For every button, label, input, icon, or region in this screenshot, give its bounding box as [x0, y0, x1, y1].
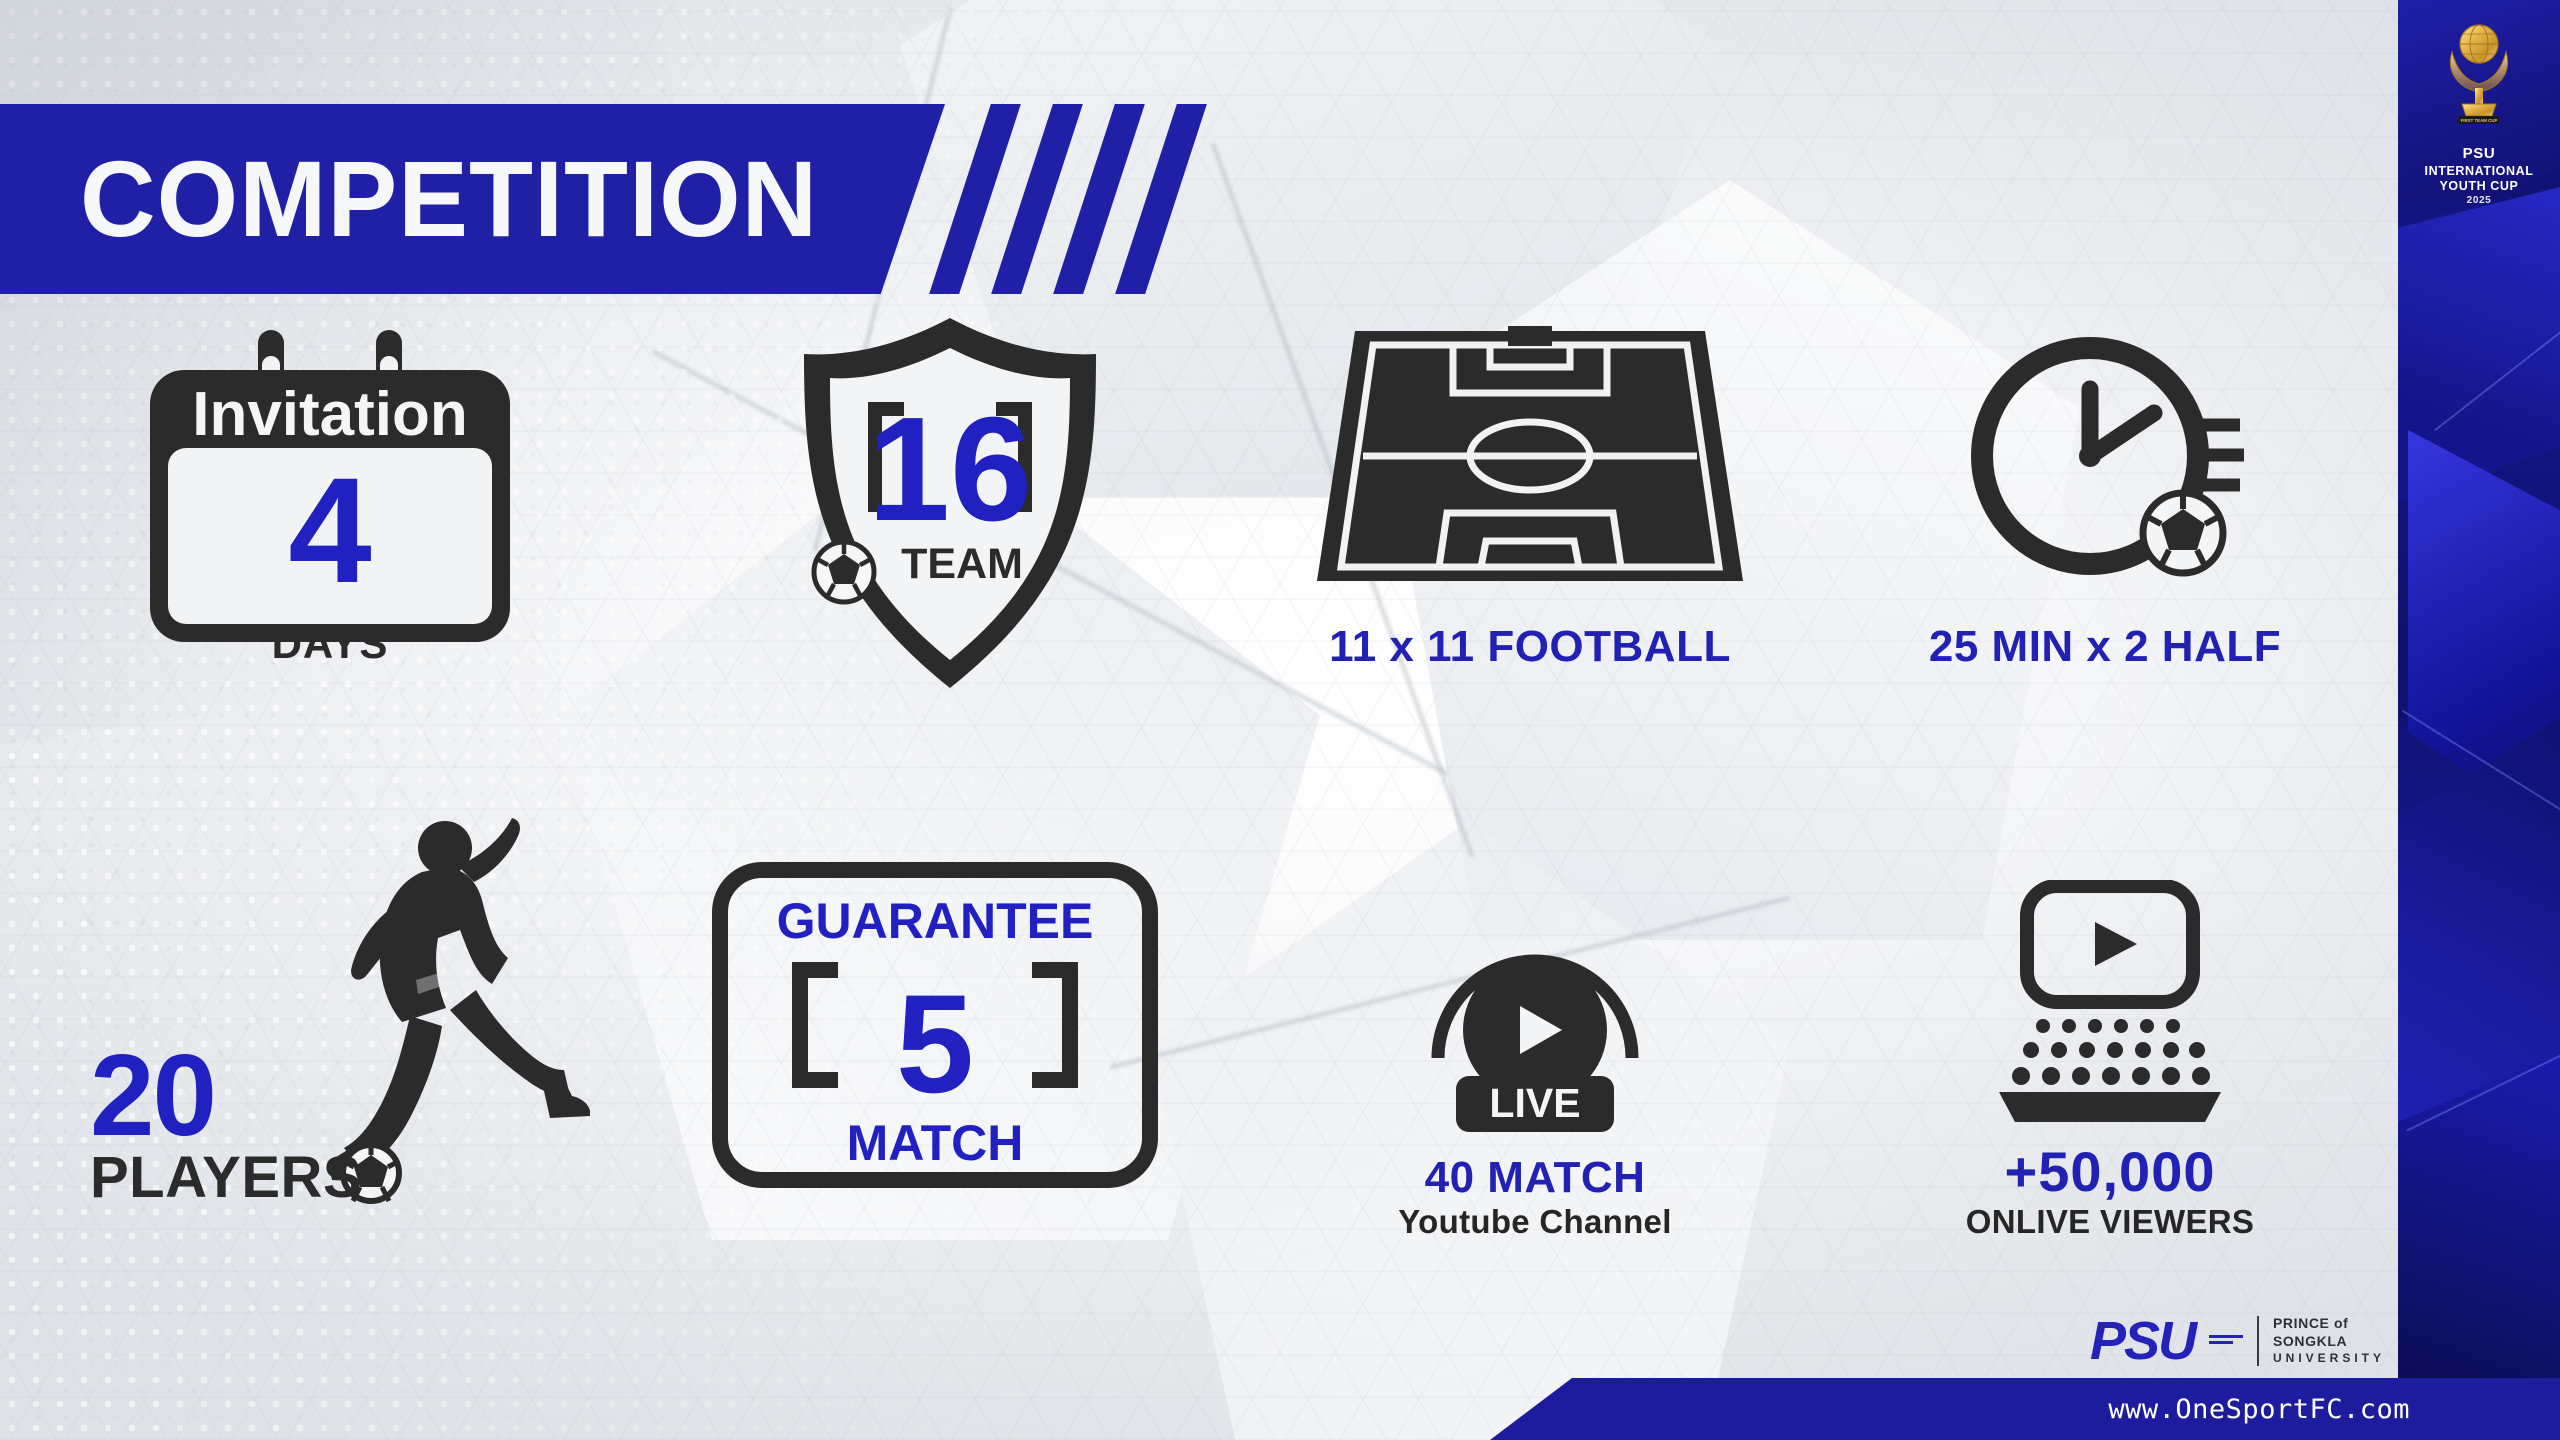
emblem-line-3: YOUTH CUP — [2425, 179, 2534, 195]
feature-teams: 16 TEAM — [760, 310, 1140, 690]
feature-invitation-days: Invitation 4 DAYS — [120, 320, 540, 680]
scoreboard-top: GUARANTEE — [777, 893, 1094, 949]
format-label: 11 x 11 FOOTBALL — [1329, 624, 1731, 670]
psu-line-2: SONGKLA — [2273, 1333, 2385, 1351]
right-sidebar — [2398, 0, 2560, 1440]
live-label-sub: Youtube Channel — [1398, 1205, 1671, 1240]
duration-label: 25 MIN x 2 HALF — [1929, 624, 2281, 670]
viewers-label-main: +50,000 — [1966, 1143, 2254, 1202]
viewers-label: +50,000 ONLIVE VIEWERS — [1966, 1143, 2254, 1240]
psu-divider — [2257, 1316, 2259, 1366]
trophy-icon: FIRST TEAM CUP — [2436, 18, 2522, 135]
clock-icon — [1940, 321, 2270, 606]
live-play-icon: LIVE — [1420, 926, 1650, 1141]
feature-grid: Invitation 4 DAYS — [0, 300, 2400, 1330]
calendar-number: 4 — [288, 446, 371, 614]
viewers-label-sub: ONLIVE VIEWERS — [1966, 1205, 2254, 1240]
shield-caption: TEAM — [901, 540, 1023, 588]
emblem-line-1: PSU — [2425, 145, 2534, 164]
live-label-main: 40 MATCH — [1398, 1155, 1671, 1201]
youtube-audience-icon — [1965, 880, 2255, 1135]
feature-players: 20 PLAYERS — [90, 790, 610, 1210]
emblem-line-4: 2025 — [2425, 195, 2534, 208]
psu-bars-icon — [2209, 1335, 2243, 1344]
emblem-caption: PSU INTERNATIONAL YOUTH CUP 2025 — [2425, 145, 2534, 208]
scoreboard-icon: GUARANTEE 5 MATCH — [710, 860, 1160, 1195]
emblem-line-2: INTERNATIONAL — [2425, 164, 2534, 180]
scoreboard-number: 5 — [896, 965, 974, 1122]
feature-duration: 25 MIN x 2 HALF — [1870, 310, 2340, 670]
live-label: 40 MATCH Youtube Channel — [1398, 1155, 1671, 1240]
players-word: PLAYERS — [90, 1151, 362, 1204]
page-title-banner: COMPETITION — [0, 104, 945, 294]
feature-live-matches: LIVE 40 MATCH Youtube Channel — [1310, 860, 1760, 1240]
players-count: 20 — [90, 1042, 362, 1149]
live-badge: LIVE — [1489, 1080, 1580, 1126]
calendar-footer: DAYS — [130, 620, 530, 668]
psu-fullname: PRINCE of SONGKLA UNIVERSITY — [2273, 1315, 2385, 1366]
feature-format: 11 x 11 FOOTBALL — [1290, 310, 1770, 670]
scoreboard-bottom: MATCH — [847, 1115, 1024, 1171]
duration-label-main: 25 MIN x 2 HALF — [1929, 624, 2281, 670]
psu-line-1: PRINCE of — [2273, 1315, 2385, 1333]
calendar-header: Invitation — [192, 380, 468, 449]
footer-bar: www.OneSportFC.com — [1490, 1378, 2560, 1440]
feature-guarantee-match: GUARANTEE 5 MATCH — [700, 860, 1170, 1220]
feature-viewers: +50,000 ONLIVE VIEWERS — [1880, 840, 2340, 1240]
football-pitch-icon — [1315, 321, 1745, 606]
psu-line-3: UNIVERSITY — [2273, 1351, 2385, 1366]
calendar-icon: Invitation 4 DAYS — [130, 320, 530, 675]
format-label-main: 11 x 11 FOOTBALL — [1329, 624, 1731, 670]
soccer-ball-small-icon — [2143, 493, 2223, 573]
competition-infographic-poster: FIRST TEAM CUP PSU INTERNATIONAL YOUTH C… — [0, 0, 2560, 1440]
shield-icon: 16 TEAM — [770, 310, 1130, 705]
psu-wordmark: PSU — [2090, 1314, 2195, 1368]
svg-text:FIRST TEAM CUP: FIRST TEAM CUP — [2461, 118, 2498, 123]
website-url[interactable]: www.OneSportFC.com — [2108, 1394, 2410, 1425]
psu-logo: PSU PRINCE of SONGKLA UNIVERSITY — [2090, 1314, 2385, 1368]
tournament-emblem: FIRST TEAM CUP PSU INTERNATIONAL YOUTH C… — [2398, 18, 2560, 208]
shield-number: 16 — [868, 387, 1033, 552]
soccer-ball-icon — [814, 542, 874, 602]
page-title: COMPETITION — [80, 145, 818, 253]
